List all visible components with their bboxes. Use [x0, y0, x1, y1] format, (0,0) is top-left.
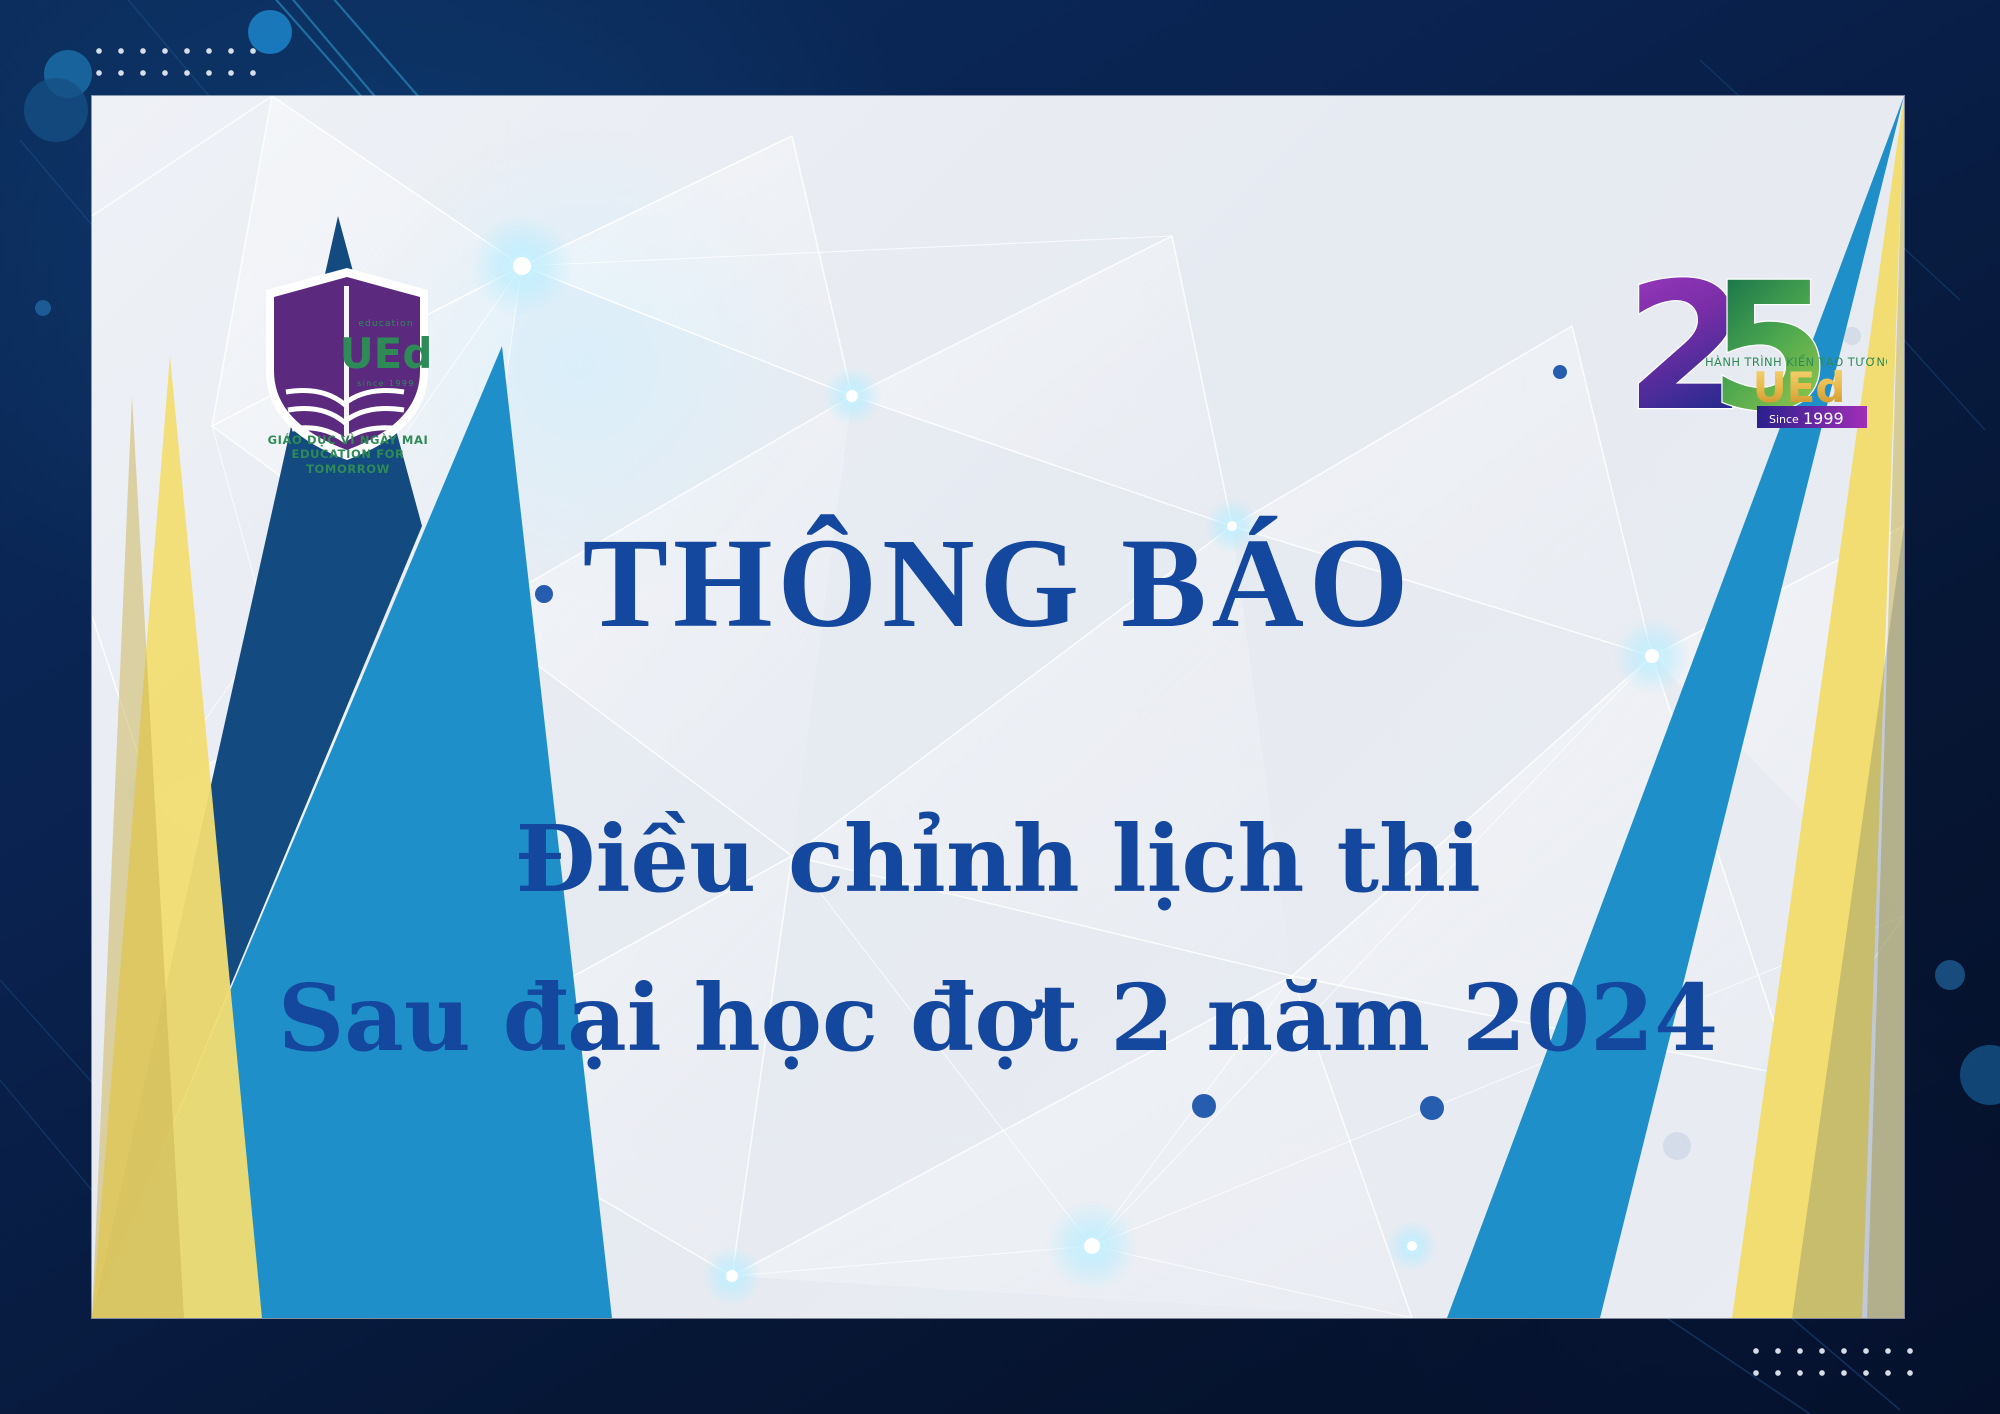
ued-logo-tagline: GIÁO DỤC VÌ NGÀY MAI EDUCATION FOR TOMOR…: [254, 433, 442, 476]
svg-text:since 1999: since 1999: [357, 379, 415, 388]
decorative-circle: [1960, 1045, 2000, 1105]
subtitle-line-1: Điều chỉnh lịch thi: [92, 809, 1904, 910]
anniversary-25-logo-icon: 2 5 HÀNH TRÌNH KIẾN TẠO TƯƠNG LAI UEd Si…: [1617, 256, 1887, 436]
dot-grid-icon: [88, 40, 264, 84]
poster-card: education UEd since 1999 GIÁO DỤC VÌ NGÀ…: [92, 96, 1904, 1318]
anniversary-since-year: 1999: [1803, 409, 1844, 428]
subtitle-line-2: Sau đại học đợt 2 năm 2024: [92, 968, 1904, 1069]
page-title: THÔNG BÁO: [92, 516, 1904, 650]
decorative-circle: [24, 78, 88, 142]
ued-tagline-en: EDUCATION FOR TOMORROW: [254, 447, 442, 476]
announcement-poster: education UEd since 1999 GIÁO DỤC VÌ NGÀ…: [0, 0, 2000, 1414]
svg-text:education: education: [358, 319, 413, 329]
dot-grid-icon: [1745, 1340, 1921, 1384]
decorative-circle: [35, 300, 51, 316]
ued-tagline-vi: GIÁO DỤC VÌ NGÀY MAI: [254, 433, 442, 447]
decorative-circle: [1935, 960, 1965, 990]
anniversary-since-label: Since: [1769, 413, 1799, 426]
anniversary-brand: UEd: [1753, 363, 1846, 412]
svg-text:UEd: UEd: [340, 329, 432, 378]
